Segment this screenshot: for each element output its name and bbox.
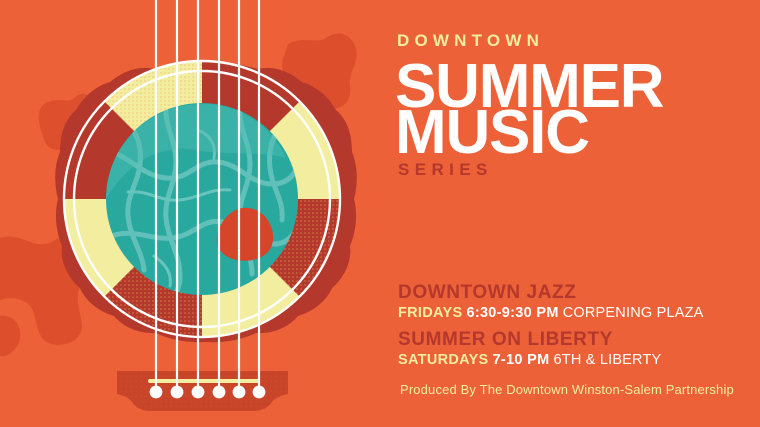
kicker-downtown: DOWNTOWN: [397, 32, 544, 49]
text-column: DOWNTOWN SUMMER MUSIC SERIES DOWNTOWN JA…: [397, 0, 760, 427]
event-block-downtown-jazz: DOWNTOWN JAZZ FRIDAYS 6:30-9:30 PM CORPE…: [398, 283, 704, 322]
event-title: DOWNTOWN JAZZ: [398, 283, 704, 303]
poster-canvas: DOWNTOWN SUMMER MUSIC SERIES DOWNTOWN JA…: [0, 0, 760, 427]
event-detail: SATURDAYS 7-10 PM 6TH & LIBERTY: [398, 352, 661, 369]
headline-music: MUSIC: [395, 104, 589, 162]
event-time: 6:30-9:30 PM: [466, 305, 558, 321]
event-day: FRIDAYS: [398, 305, 462, 321]
guitar-illustration-svg: [0, 0, 390, 427]
guitar-artwork: [0, 0, 390, 427]
event-detail: FRIDAYS 6:30-9:30 PM CORPENING PLAZA: [398, 305, 704, 322]
event-block-summer-on-liberty: SUMMER ON LIBERTY SATURDAYS 7-10 PM 6TH …: [398, 330, 661, 369]
event-venue: CORPENING PLAZA: [563, 305, 704, 321]
event-venue: 6TH & LIBERTY: [554, 352, 662, 368]
event-title: SUMMER ON LIBERTY: [398, 330, 661, 350]
producer-credit: Produced By The Downtown Winston-Salem P…: [400, 382, 734, 397]
series-label: SERIES: [398, 161, 493, 178]
event-time: 7-10 PM: [493, 352, 550, 368]
bridge-saddle: [148, 379, 260, 383]
event-day: SATURDAYS: [398, 352, 489, 368]
